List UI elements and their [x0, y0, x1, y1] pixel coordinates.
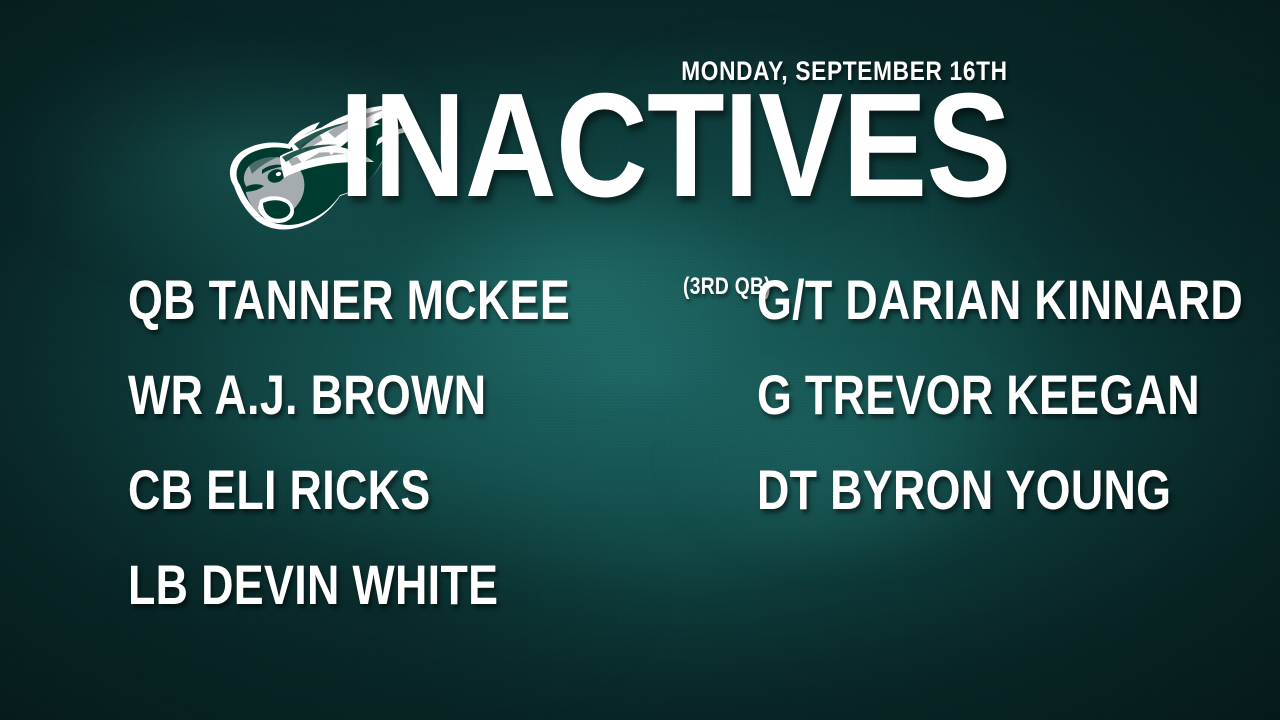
player-label: CB ELI RICKS [128, 462, 431, 518]
list-item: LB DEVIN WHITE [128, 557, 792, 652]
player-label: WR A.J. BROWN [128, 367, 486, 423]
list-item: CB ELI RICKS [128, 462, 792, 557]
inactives-graphic: MONDAY, SEPTEMBER 16TH INACTIVES QB TANN… [0, 0, 1280, 720]
page-title: INACTIVES [339, 78, 1010, 214]
inactives-list: QB TANNER MCKEE (3RD QB) WR A.J. BROWN C… [0, 272, 1280, 672]
player-label: G/T DARIAN KINNARD [757, 272, 1243, 328]
list-item: DT BYRON YOUNG [757, 462, 1280, 557]
list-item: G TREVOR KEEGAN [757, 367, 1280, 462]
inactives-column-right: G/T DARIAN KINNARD G TREVOR KEEGAN DT BY… [757, 272, 1280, 557]
list-item: G/T DARIAN KINNARD [757, 272, 1280, 367]
player-label: G TREVOR KEEGAN [757, 367, 1200, 423]
inactives-column-left: QB TANNER MCKEE (3RD QB) WR A.J. BROWN C… [128, 272, 792, 652]
player-label: DT BYRON YOUNG [757, 462, 1171, 518]
list-item: QB TANNER MCKEE (3RD QB) [128, 272, 792, 367]
player-label: QB TANNER MCKEE [128, 272, 570, 328]
list-item: WR A.J. BROWN [128, 367, 792, 462]
header: MONDAY, SEPTEMBER 16TH INACTIVES [0, 0, 1280, 250]
player-label: LB DEVIN WHITE [128, 557, 498, 613]
